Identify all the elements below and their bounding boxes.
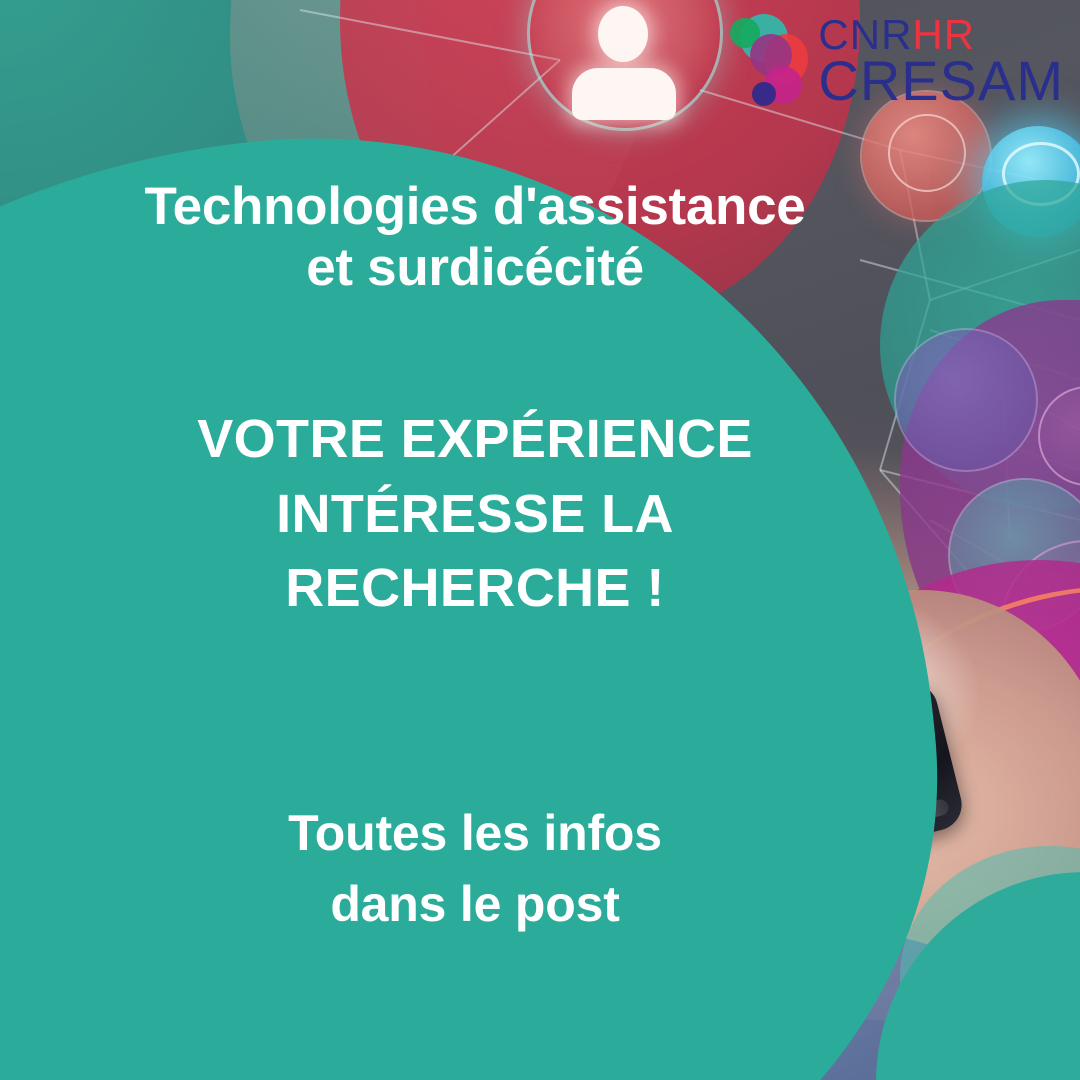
headline-line-2: et surdicécité — [40, 237, 910, 298]
headline-line-1: Technologies d'assistance — [40, 176, 910, 237]
slogan-block: VOTRE EXPÉRIENCE INTÉRESSE LA RECHERCHE … — [110, 402, 840, 626]
headline-block: Technologies d'assistance et surdicécité — [40, 176, 910, 299]
poster-content: CNRHR CRESAM Technologies d'assistance e… — [0, 0, 1080, 1080]
logo-wordmark: CNRHR CRESAM — [818, 8, 1064, 106]
cta-line-2: dans le post — [110, 869, 840, 940]
slogan-line-1: VOTRE EXPÉRIENCE — [110, 402, 840, 477]
poster-canvas: CNRHR CRESAM Technologies d'assistance e… — [0, 0, 1080, 1080]
slogan-line-2: INTÉRESSE LA — [110, 477, 840, 552]
logo-circles-mark-icon — [726, 8, 808, 106]
cnrhr-cresam-logo[interactable]: CNRHR CRESAM — [726, 8, 1064, 106]
cta-block: Toutes les infos dans le post — [110, 798, 840, 940]
logo-circle-navy-icon — [752, 82, 776, 106]
slogan-line-3: RECHERCHE ! — [110, 551, 840, 626]
logo-text-cresam: CRESAM — [818, 56, 1064, 106]
cta-line-1: Toutes les infos — [110, 798, 840, 869]
